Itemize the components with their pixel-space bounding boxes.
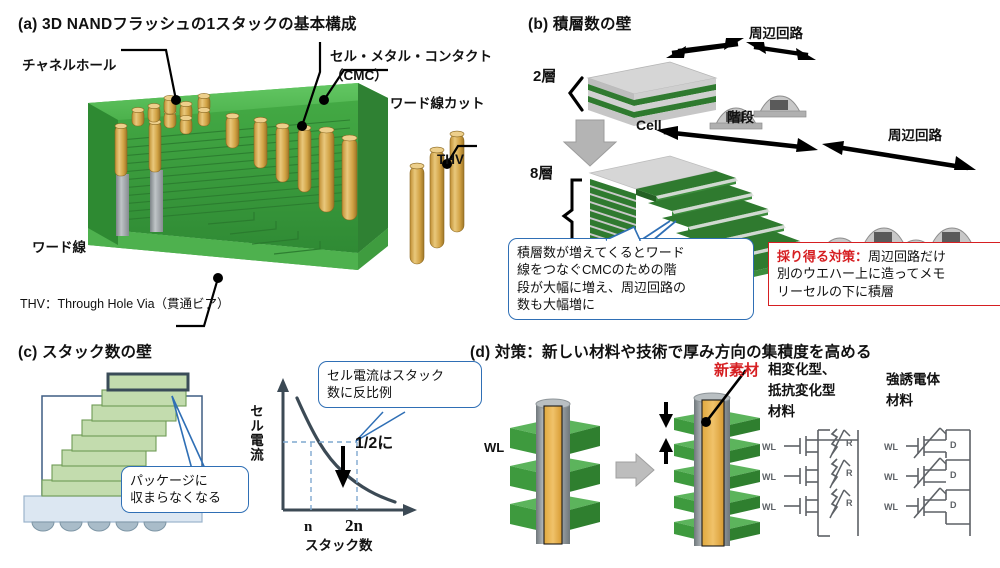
measure-rest-1: 周辺回路だけ (868, 249, 946, 264)
measure-head: 採り得る対策： (777, 249, 868, 264)
measure-line-2: 別のウエハー上に造ってメモ (777, 265, 993, 282)
panel-d-title: (d) 対策：新しい材料や技術で厚み方向の集積度を高める (470, 340, 872, 362)
label-cmc-line1: セル・メタル・コンタクト (330, 49, 492, 66)
label-channel-hole: チャネルホール (22, 58, 116, 75)
panel-c-title: (c) スタック数の壁 (18, 340, 152, 362)
half-reduction-label: 1/2に (355, 434, 393, 454)
callout-line-4: 数も大幅増に (517, 296, 745, 313)
circuit-fe-wl-2: WL (884, 472, 898, 482)
chart-xlabel: スタック数 (305, 538, 373, 555)
measure-box: 採り得る対策：周辺回路だけ 別のウエハー上に造ってメモ リーセルの下に積層 (768, 242, 1000, 306)
label-material-pcm-1: 相変化型、 (768, 362, 836, 379)
label-cmc-line2: （CMC） (330, 68, 388, 85)
label-stairs: 階段 (727, 110, 754, 127)
circuit-pcm-r-3: R (846, 498, 853, 508)
footnote-thv: THV：Through Hole Via（貫通ビア） (20, 293, 230, 312)
panel-a-title: (a) 3D NANDフラッシュの1スタックの基本構成 (18, 12, 357, 34)
chart-xtick-n: n (304, 518, 312, 537)
callout-stack-count: 積層数が増えてくるとワード 線をつなぐCMCのための階 段が大幅に増え、周辺回路… (508, 238, 754, 320)
circuit-pcm-wl-1: WL (762, 442, 776, 452)
label-new-material: 新素材 (714, 362, 759, 381)
circuit-pcm-wl-3: WL (762, 502, 776, 512)
label-8-layer: 8層 (530, 165, 553, 184)
callout-line-3: 段が大幅に増え、周辺回路の (517, 279, 745, 296)
circuit-ferroelectric: WL WL WL D D D (884, 424, 1000, 542)
circuit-fe-wl-3: WL (884, 502, 898, 512)
label-peripheral-top: 周辺回路 (749, 26, 803, 43)
callout-tail (600, 227, 660, 243)
circuit-fe-d-2: D (950, 470, 957, 480)
chart-xtick-2n: 2n (345, 515, 363, 536)
label-cell: Cell (636, 117, 662, 135)
panel-d-illustration (478, 392, 808, 552)
callout-package-line-2: 収まらなくなる (130, 489, 240, 506)
callout-package-line-1: パッケージに (130, 472, 240, 489)
callout-cell-current: セル電流はスタック 数に反比例 (318, 361, 482, 408)
circuit-pcm: WL WL WL R R R (762, 424, 892, 542)
label-material-fe-2: 材料 (886, 393, 913, 410)
panel-c-package (14, 372, 239, 547)
circuit-pcm-r-1: R (846, 438, 853, 448)
callout-cc-line-1: セル電流はスタック (327, 367, 473, 384)
chart-ylabel: セル電流 (245, 404, 265, 462)
label-word-line: ワード線 (32, 240, 86, 257)
circuit-pcm-wl-2: WL (762, 472, 776, 482)
callout-package: パッケージに 収まらなくなる (121, 466, 249, 513)
label-2-layer: 2層 (533, 68, 556, 87)
label-material-pcm-2: 抵抗変化型 (768, 383, 836, 400)
label-wl: WL (484, 440, 504, 456)
measure-line-1: 採り得る対策：周辺回路だけ (777, 248, 993, 265)
label-thv: THV (437, 152, 464, 169)
panel-b-title: (b) 積層数の壁 (528, 12, 631, 34)
measure-line-3: リーセルの下に積層 (777, 283, 993, 300)
label-material-pcm-3: 材料 (768, 404, 795, 421)
circuit-fe-d-1: D (950, 440, 957, 450)
circuit-fe-wl-1: WL (884, 442, 898, 452)
circuit-pcm-r-2: R (846, 468, 853, 478)
label-peripheral-right: 周辺回路 (888, 128, 942, 145)
label-material-fe-1: 強誘電体 (886, 372, 940, 389)
callout-cc-line-2: 数に反比例 (327, 384, 473, 401)
callout-line-2: 線をつなぐCMCのための階 (517, 261, 745, 278)
circuit-fe-d-3: D (950, 500, 957, 510)
label-word-line-cut: ワード線カット (390, 96, 485, 113)
callout-line-1: 積層数が増えてくるとワード (517, 244, 745, 261)
